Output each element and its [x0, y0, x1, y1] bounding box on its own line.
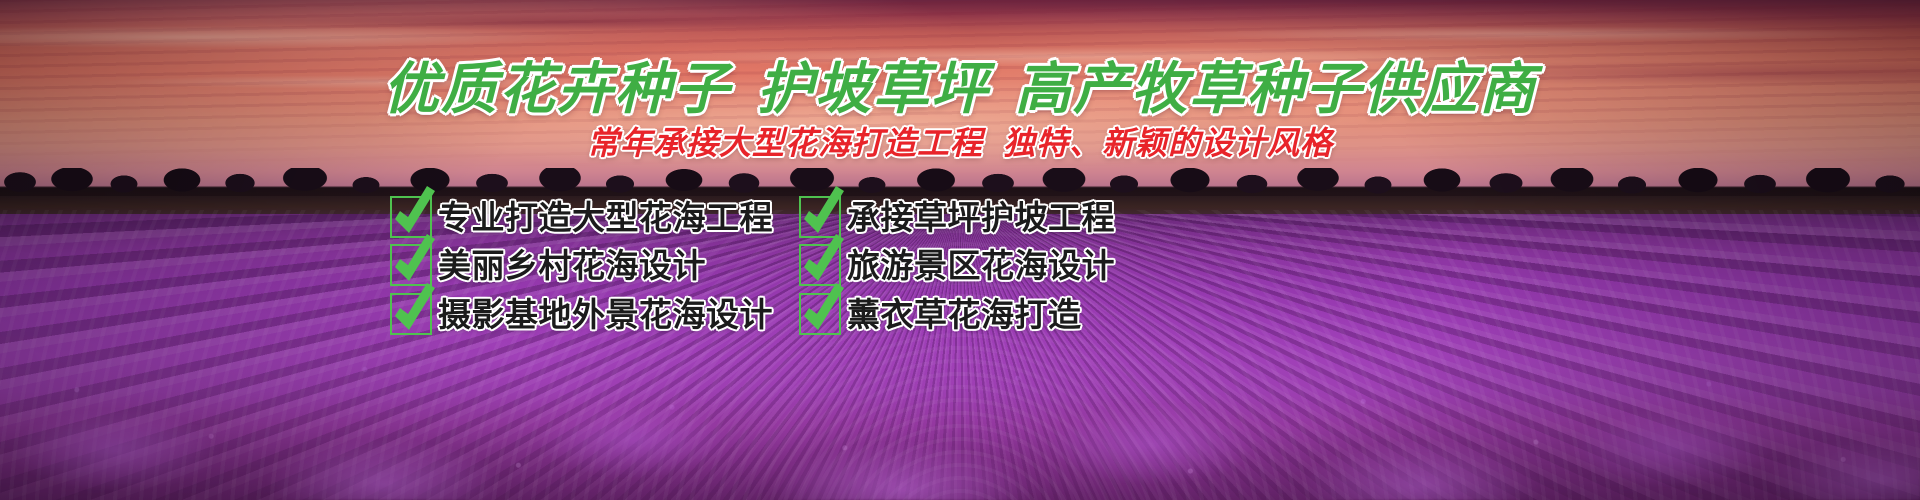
checklist-item-label: 专业打造大型花海工程 — [438, 201, 773, 234]
banner-content: 优质花卉种子护坡草坪高产牧草种子供应商 常年承接大型花海打造工程独特、新颖的设计… — [0, 0, 1920, 500]
checkbox-outline — [799, 293, 841, 335]
promo-banner: 优质花卉种子护坡草坪高产牧草种子供应商 常年承接大型花海打造工程独特、新颖的设计… — [0, 0, 1920, 500]
checklist-item: 承接草坪护坡工程 — [799, 196, 1115, 238]
checkbox-outline — [390, 244, 432, 286]
checklist-item-label: 薰衣草花海打造 — [847, 298, 1082, 331]
checklist-item-label: 承接草坪护坡工程 — [847, 201, 1115, 234]
checkbox-outline — [390, 293, 432, 335]
feature-checklist: 专业打造大型花海工程 承接草坪护坡工程 美丽乡村花海设计 — [390, 196, 1170, 344]
headline-part-1: 优质花卉种子 — [383, 57, 731, 122]
checklist-item-label: 旅游景区花海设计 — [847, 249, 1115, 282]
checklist-item-label: 美丽乡村花海设计 — [438, 249, 706, 282]
headline-part-2: 护坡草坪 — [757, 57, 989, 122]
subheadline-part-2: 独特、新颖的设计风格 — [1003, 124, 1333, 162]
banner-subheadline: 常年承接大型花海打造工程独特、新颖的设计风格 — [0, 118, 1920, 164]
checklist-item: 专业打造大型花海工程 — [390, 196, 773, 238]
checkbox-outline — [799, 244, 841, 286]
headline-part-3: 高产牧草种子供应商 — [1015, 57, 1537, 122]
checklist-item: 美丽乡村花海设计 — [390, 244, 706, 286]
checklist-item: 摄影基地外景花海设计 — [390, 293, 773, 335]
check-mark-icon — [794, 282, 850, 344]
checklist-item: 薰衣草花海打造 — [799, 293, 1082, 335]
checklist-item: 旅游景区花海设计 — [799, 244, 1115, 286]
checklist-item-label: 摄影基地外景花海设计 — [438, 298, 773, 331]
checkbox-outline — [799, 196, 841, 238]
check-mark-icon — [385, 282, 441, 344]
subheadline-part-1: 常年承接大型花海打造工程 — [587, 124, 983, 162]
checkbox-outline — [390, 196, 432, 238]
banner-headline: 优质花卉种子护坡草坪高产牧草种子供应商 — [0, 44, 1920, 125]
